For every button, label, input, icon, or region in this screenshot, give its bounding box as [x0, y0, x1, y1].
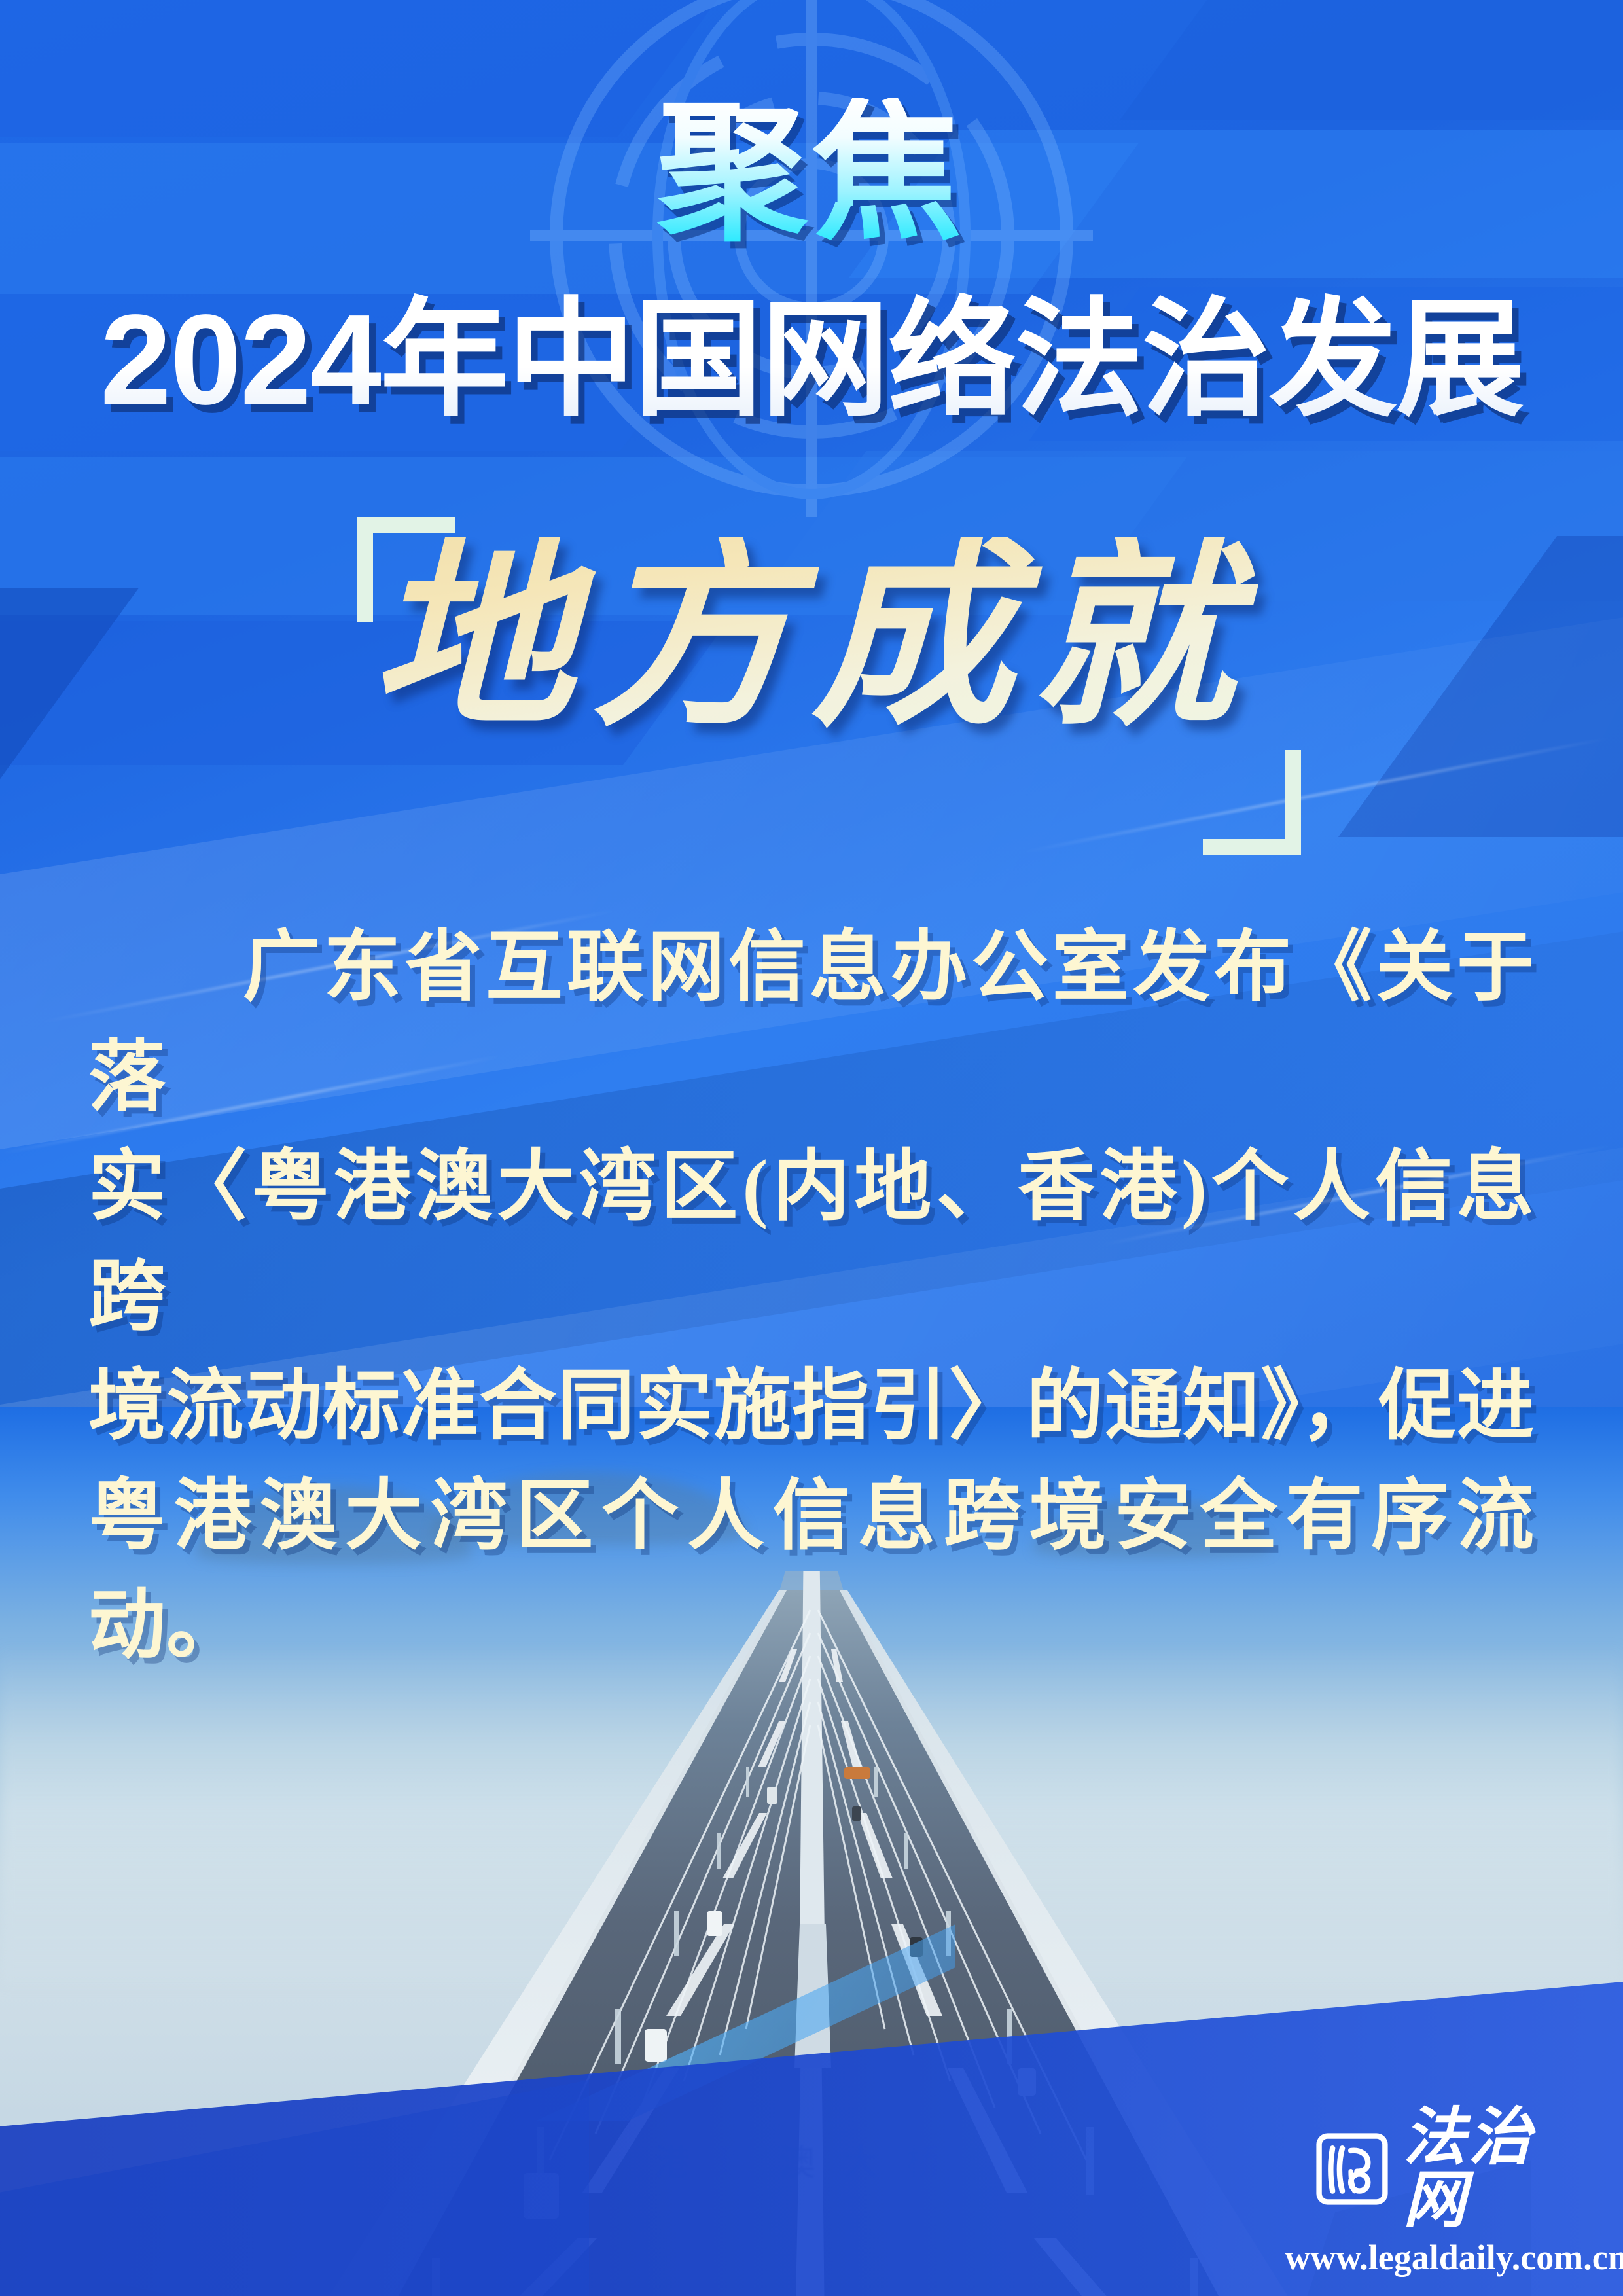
page-title: 2024年中国网络法治发展 — [0, 293, 1623, 427]
logo-row: 法治网 — [1315, 2106, 1597, 2232]
poster-root: 聚焦 2024年中国网络法治发展 地方成就 广东省互联网信息办公室发布《关于落 … — [0, 0, 1623, 2296]
site-logo[interactable]: 法治网 www.legaldaily.com.cn — [1315, 2106, 1597, 2278]
radar-target-icon — [517, 0, 1106, 530]
corner-bracket-bottom-right-icon — [1203, 750, 1301, 855]
logo-wordmark: 法治网 — [1403, 2106, 1597, 2232]
subtitle-block: 地方成就 — [0, 517, 1623, 825]
body-line: 实〈粤港澳大湾区(内地、香港)个人信息跨 — [88, 1132, 1535, 1352]
logo-url: www.legaldaily.com.cn — [1285, 2237, 1623, 2278]
legal-seal-icon — [1315, 2132, 1389, 2206]
calligraphy-subtitle: 地方成就 — [0, 537, 1623, 740]
body-line: 广东省互联网信息办公室发布《关于落 — [88, 913, 1535, 1132]
body-line: 粤港澳大湾区个人信息跨境安全有序流动。 — [88, 1462, 1535, 1681]
kicker-text: 聚焦 — [657, 98, 966, 249]
kicker-wrap: 聚焦 — [0, 98, 1623, 249]
body-line: 境流动标准合同实施指引〉的通知》，促进 — [88, 1352, 1535, 1462]
body-paragraph: 广东省互联网信息办公室发布《关于落 实〈粤港澳大湾区(内地、香港)个人信息跨 境… — [88, 913, 1535, 1681]
